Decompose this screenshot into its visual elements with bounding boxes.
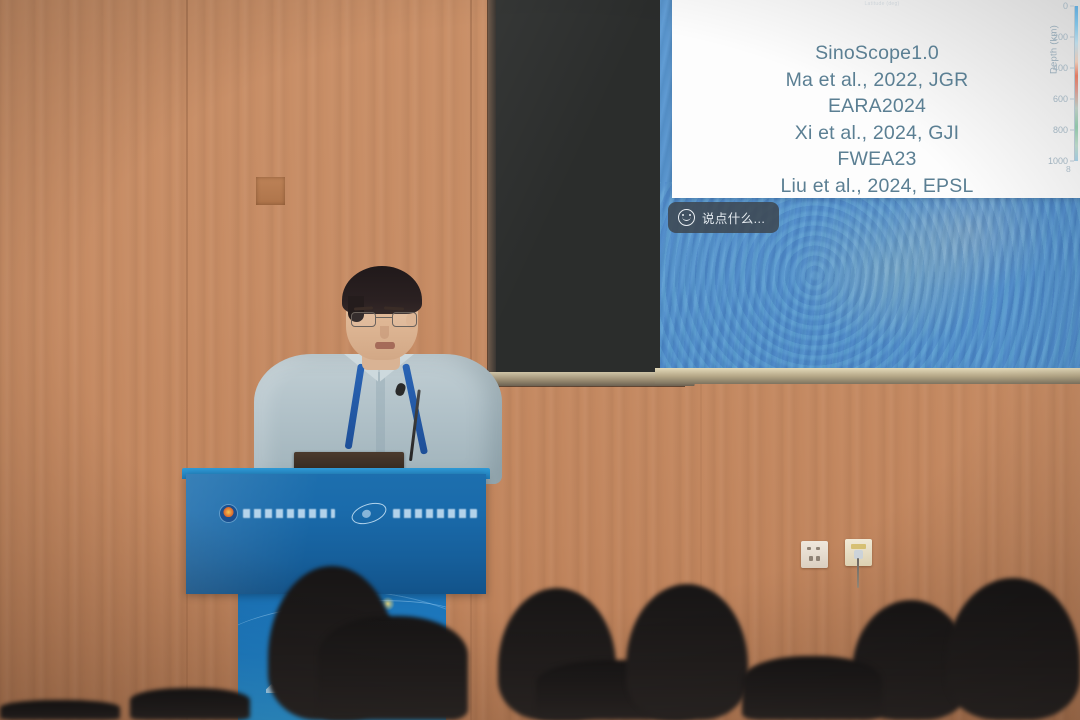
podium-logo-left [220, 505, 335, 522]
depth-tick-label: 400 [1053, 63, 1068, 73]
slide-line: SinoScope1.0 [672, 40, 1080, 67]
audience-head [742, 656, 882, 720]
depth-tick-label: 200 [1053, 32, 1068, 42]
depth-tick-label: 600 [1053, 94, 1068, 104]
wall-panel-seam [186, 0, 188, 720]
speaker-mouth [375, 342, 395, 349]
patch-cable [857, 558, 859, 588]
projection-screen-base-trim [655, 368, 1080, 384]
power-outlet-plate[interactable] [801, 541, 828, 568]
slide-line: FWEA23 [672, 146, 1080, 173]
podium-logo-right [351, 504, 477, 523]
slide-text-block: SinoScope1.0 Ma et al., 2022, JGR EARA20… [672, 40, 1080, 199]
eyeglasses [351, 312, 417, 327]
speaker-nose [380, 326, 389, 339]
presentation-slide: Latitude (deg) SinoScope1.0 Ma et al., 2… [672, 0, 1080, 198]
school-name-text [393, 509, 477, 518]
slide-line: Xi et al., 2024, GJI [672, 120, 1080, 147]
podium-logo-row [220, 504, 477, 523]
chat-input-placeholder: 说点什么... [702, 208, 765, 227]
slide-line: Ma et al., 2022, JGR [672, 67, 1080, 94]
depth-tick-label: 1000 [1048, 156, 1068, 166]
clipped-plot-figure: Latitude (deg) [764, 0, 1000, 12]
velocity-profile-strip [1075, 6, 1078, 161]
slide-line: Liu et al., 2024, EPSL [672, 173, 1080, 200]
chat-input-overlay[interactable]: 说点什么... [668, 202, 779, 233]
presentation-photo-scene: Latitude (deg) SinoScope1.0 Ma et al., 2… [0, 0, 1080, 720]
depth-tick-label: 800 [1053, 125, 1068, 135]
depth-tick-group: 0 200 400 600 800 1000 [1040, 6, 1074, 161]
audience-head [318, 616, 468, 720]
depth-axis-bottom-label: 8 [1066, 164, 1071, 174]
plot-xlabel: Latitude (deg) [764, 1, 1000, 7]
audience-head [130, 688, 250, 720]
slide-line: EARA2024 [672, 93, 1080, 120]
depth-tick-label: 0 [1063, 1, 1068, 11]
university-crest-icon [220, 505, 237, 522]
audience-head [0, 700, 120, 720]
smiley-icon[interactable] [678, 209, 695, 226]
speaker-figure [252, 268, 502, 483]
wall-display-panel [488, 0, 684, 386]
depth-axis-panel: Depth (km) 0 200 400 600 800 1000 8 [1022, 0, 1080, 192]
university-name-text [243, 509, 335, 518]
wall-access-plate [256, 177, 285, 205]
